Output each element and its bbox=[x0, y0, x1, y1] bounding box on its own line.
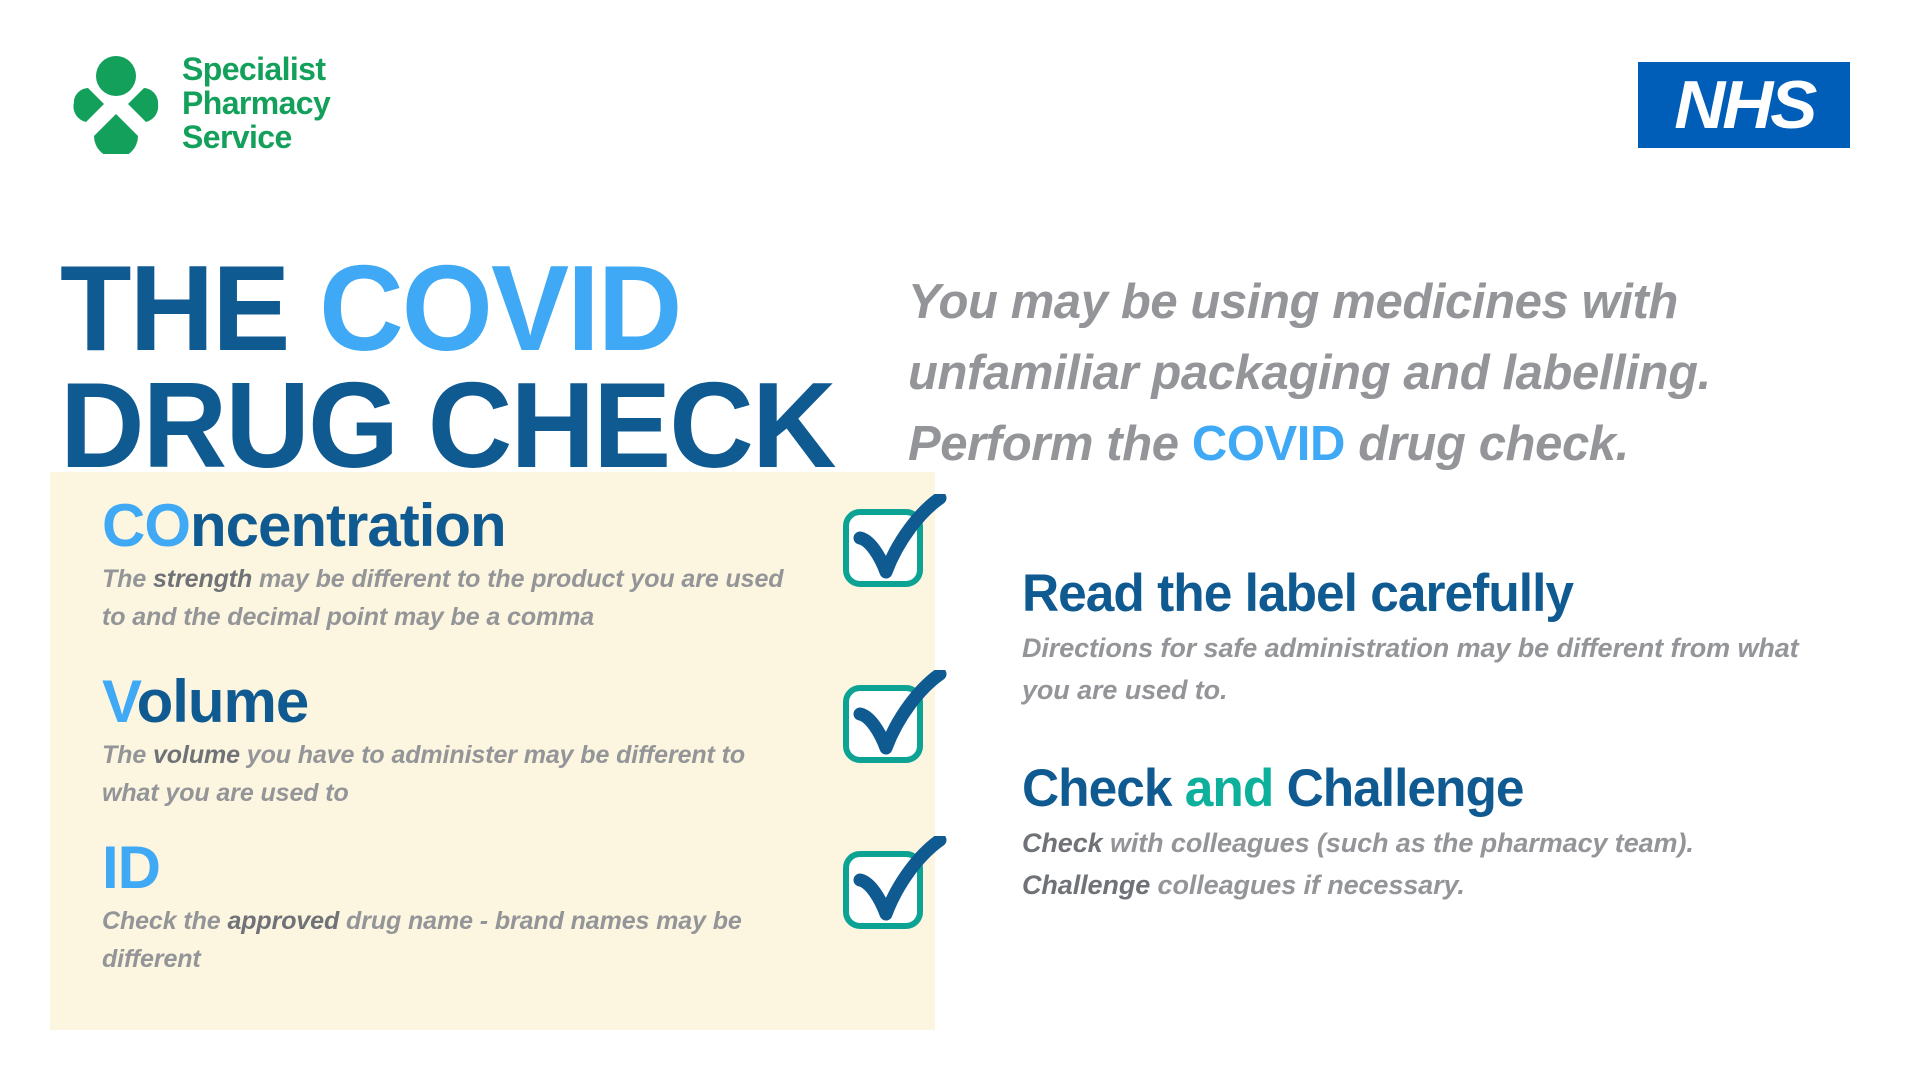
page-title-line-1: THE COVID bbox=[60, 250, 835, 367]
advice-heading-challenge: Challenge bbox=[1273, 759, 1523, 818]
checklist-heading-volume: Volume bbox=[102, 670, 308, 734]
page-title-line-2: DRUG CHECK bbox=[60, 367, 835, 484]
advice-heading-check: Check bbox=[1022, 759, 1185, 818]
checklist-body-emphasis: strength bbox=[153, 565, 252, 593]
checklist-heading-id: ID bbox=[102, 836, 160, 900]
checklist-body-concentration: The strength may be different to the pro… bbox=[102, 560, 802, 636]
advice-body-check-and-challenge: Check with colleagues (such as the pharm… bbox=[1022, 822, 1852, 906]
advice-heading-and: and bbox=[1185, 759, 1273, 818]
page-title-the: THE bbox=[60, 240, 319, 376]
checkbox-checked-icon[interactable] bbox=[840, 494, 950, 590]
page-title-covid: COVID bbox=[319, 240, 680, 376]
checklist-heading-highlight: ID bbox=[102, 834, 160, 901]
checklist-body-before: The bbox=[102, 741, 153, 769]
checklist-heading-rest: ncentration bbox=[190, 492, 506, 559]
sps-wordmark: Specialist Pharmacy Service bbox=[182, 52, 330, 154]
sps-wordmark-line-3: Service bbox=[182, 120, 330, 154]
checklist-body-before: Check the bbox=[102, 907, 227, 935]
intro-paragraph: You may be using medicines with unfamili… bbox=[908, 267, 1828, 480]
intro-text-after: drug check. bbox=[1345, 417, 1629, 471]
sps-wordmark-line-1: Specialist bbox=[182, 52, 330, 86]
checklist-heading-rest: olume bbox=[137, 668, 309, 735]
checklist-heading-highlight: V bbox=[102, 668, 137, 735]
advice-body-line-1-emphasis: Check bbox=[1022, 828, 1103, 858]
checkbox-checked-icon[interactable] bbox=[840, 836, 950, 932]
covid-checklist-panel: COncentration The strength may be differ… bbox=[50, 472, 935, 1030]
checklist-heading-concentration: COncentration bbox=[102, 494, 506, 558]
advice-block-check-and-challenge: Check and Challenge Check with colleague… bbox=[1022, 760, 1852, 906]
advice-body-line-2-emphasis: Challenge bbox=[1022, 870, 1150, 900]
advice-body-line-1: Check with colleagues (such as the pharm… bbox=[1022, 822, 1852, 864]
intro-covid-highlight: COVID bbox=[1192, 417, 1345, 471]
advice-body-line-2: Challenge colleagues if necessary. bbox=[1022, 864, 1852, 906]
advice-body-line-2-rest: colleagues if necessary. bbox=[1150, 870, 1465, 900]
checklist-body-emphasis: approved bbox=[227, 907, 339, 935]
checklist-body-before: The bbox=[102, 565, 153, 593]
checklist-body-volume: The volume you have to administer may be… bbox=[102, 736, 802, 812]
page-title: THE COVID DRUG CHECK bbox=[60, 250, 867, 484]
sps-clover-icon bbox=[62, 54, 170, 154]
nhs-logo: NHS bbox=[1638, 62, 1850, 148]
advice-heading-read-the-label: Read the label carefully bbox=[1022, 565, 1827, 623]
checklist-body-emphasis: volume bbox=[153, 741, 240, 769]
advice-body-read-the-label: Directions for safe administration may b… bbox=[1022, 627, 1852, 711]
checkbox-checked-icon[interactable] bbox=[840, 670, 950, 766]
checklist-body-id: Check the approved drug name - brand nam… bbox=[102, 902, 802, 978]
advice-heading-check-and-challenge: Check and Challenge bbox=[1022, 760, 1827, 818]
checklist-heading-highlight: CO bbox=[102, 492, 190, 559]
sps-wordmark-line-2: Pharmacy bbox=[182, 86, 330, 120]
nhs-logo-text: NHS bbox=[1674, 71, 1814, 139]
sps-logo: Specialist Pharmacy Service bbox=[62, 52, 402, 162]
advice-body-line-1-rest: with colleagues (such as the pharmacy te… bbox=[1103, 828, 1694, 858]
advice-block-read-the-label: Read the label carefully Directions for … bbox=[1022, 565, 1852, 711]
